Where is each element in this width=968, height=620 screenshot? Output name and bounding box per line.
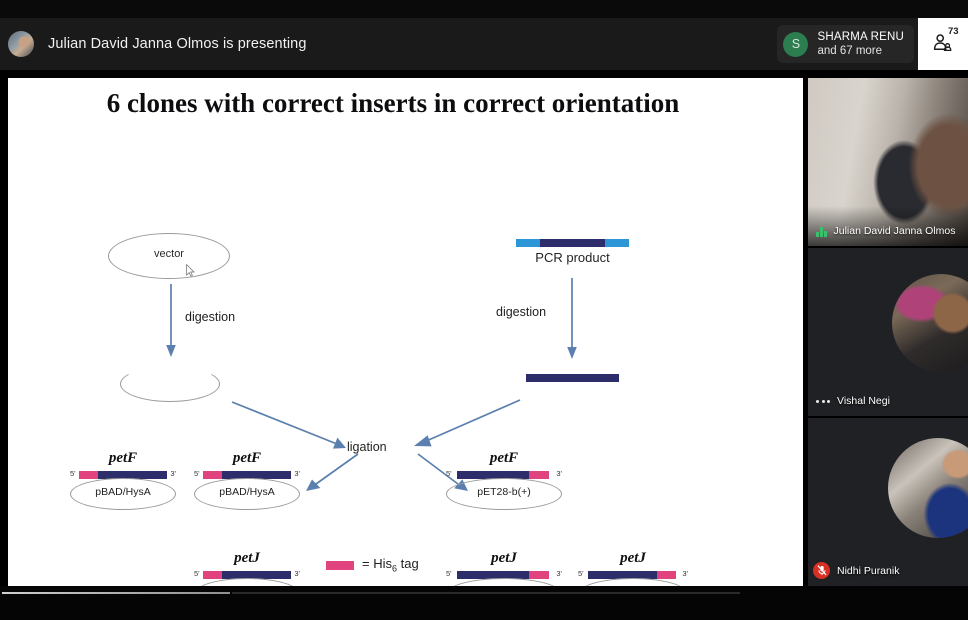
- gene-label: petJ: [578, 550, 688, 567]
- five-prime-tick: 5': [194, 469, 200, 478]
- gene-label: petJ: [446, 550, 562, 567]
- slide-title: 6 clones with correct inserts in correct…: [98, 86, 688, 121]
- gene-label: petF: [194, 450, 300, 467]
- ligation-arrow-from-vector: [230, 400, 350, 452]
- shared-screen-slide[interactable]: 6 clones with correct inserts in correct…: [8, 78, 803, 586]
- construct-petf-pet28-1: petF 5' 3' pET28-b(+): [446, 450, 562, 512]
- three-prime-tick: 3': [294, 469, 300, 478]
- gene-label: petF: [70, 450, 176, 467]
- gene-label: petF: [446, 450, 562, 467]
- audio-level-icon: [816, 226, 827, 237]
- tile-name-row: Julian David Janna Olmos: [816, 225, 955, 237]
- video-call-window: Julian David Janna Olmos is presenting S…: [0, 0, 968, 620]
- participant-video-rail: Julian David Janna Olmos Vishal Negi: [808, 78, 968, 586]
- active-speaker-avatar: S: [783, 32, 808, 57]
- plasmid-label: pBAD/HysA: [194, 486, 300, 498]
- construct-petf-pbad-2: petF 5' 3' pBAD/HysA: [194, 450, 300, 512]
- pcr-product-bar: [516, 239, 629, 247]
- mouse-cursor-icon: [186, 264, 195, 277]
- vector-label: vector: [108, 248, 230, 260]
- plasmid-label: pET28-b(+): [446, 486, 562, 498]
- presenter-avatar: [8, 31, 34, 57]
- active-speaker-name: SHARMA RENU: [817, 30, 904, 44]
- five-prime-tick: 5': [446, 569, 452, 578]
- three-prime-tick: 3': [556, 569, 562, 578]
- tile-name-row: Nidhi Puranik: [813, 562, 899, 579]
- five-prime-tick: 5': [446, 469, 452, 478]
- active-speaker-chip[interactable]: S SHARMA RENU and 67 more: [777, 25, 914, 63]
- participants-button[interactable]: 73: [918, 18, 968, 70]
- digested-insert-bar: [526, 374, 619, 382]
- more-options-icon[interactable]: [816, 400, 830, 403]
- digested-vector-shape: [120, 366, 220, 402]
- participant-name: Vishal Negi: [837, 395, 890, 407]
- five-prime-tick: 5': [70, 469, 76, 478]
- legend-equals: =: [362, 556, 370, 571]
- avatar: [888, 438, 968, 538]
- ligation-arrow-out-left: [302, 452, 364, 496]
- presenting-status-text: Julian David Janna Olmos is presenting: [48, 36, 306, 52]
- plasmid-label: pBAD/HysA: [70, 486, 176, 498]
- three-prime-tick: 3': [682, 569, 688, 578]
- presentation-progress-track: [232, 592, 740, 594]
- presentation-progress-line: [2, 592, 230, 594]
- legend-suffix: tag: [397, 556, 419, 571]
- top-bar-right-group: S SHARMA RENU and 67 more 73: [777, 18, 968, 70]
- pcr-product-label: PCR product: [486, 250, 659, 265]
- digestion-label-right: digestion: [496, 305, 546, 319]
- three-prime-tick: 3': [294, 569, 300, 578]
- active-speaker-names: SHARMA RENU and 67 more: [817, 30, 904, 58]
- participant-name: Nidhi Puranik: [837, 565, 899, 577]
- gene-label: petJ: [194, 550, 300, 567]
- video-tile-nidhi[interactable]: Nidhi Puranik: [808, 418, 968, 586]
- window-top-edge: [0, 0, 968, 18]
- video-tile-vishal[interactable]: Vishal Negi: [808, 248, 968, 416]
- construct-petf-pbad-1: petF 5' 3' pBAD/HysA: [70, 450, 176, 512]
- legend-his-tag-text: = His6 tag: [362, 556, 419, 574]
- digestion-arrow-left: [163, 284, 179, 358]
- three-prime-tick: 3': [170, 469, 176, 478]
- microphone-muted-icon: [813, 562, 830, 579]
- participant-name: Julian David Janna Olmos: [834, 225, 956, 237]
- five-prime-tick: 5': [578, 569, 584, 578]
- digestion-label-left: digestion: [185, 310, 235, 324]
- three-prime-tick: 3': [556, 469, 562, 478]
- five-prime-tick: 5': [194, 569, 200, 578]
- video-tile-julian[interactable]: Julian David Janna Olmos: [808, 78, 968, 246]
- participant-count: 73: [948, 26, 959, 37]
- meeting-top-bar: Julian David Janna Olmos is presenting S…: [0, 18, 968, 70]
- digestion-arrow-right: [564, 278, 580, 360]
- active-speaker-more-count: and 67 more: [817, 44, 904, 58]
- legend-his: His: [373, 556, 392, 571]
- legend-his-tag-swatch: [326, 561, 354, 570]
- avatar: [892, 274, 968, 372]
- tile-name-row: Vishal Negi: [816, 395, 890, 407]
- ligation-arrow-from-insert: [412, 398, 522, 450]
